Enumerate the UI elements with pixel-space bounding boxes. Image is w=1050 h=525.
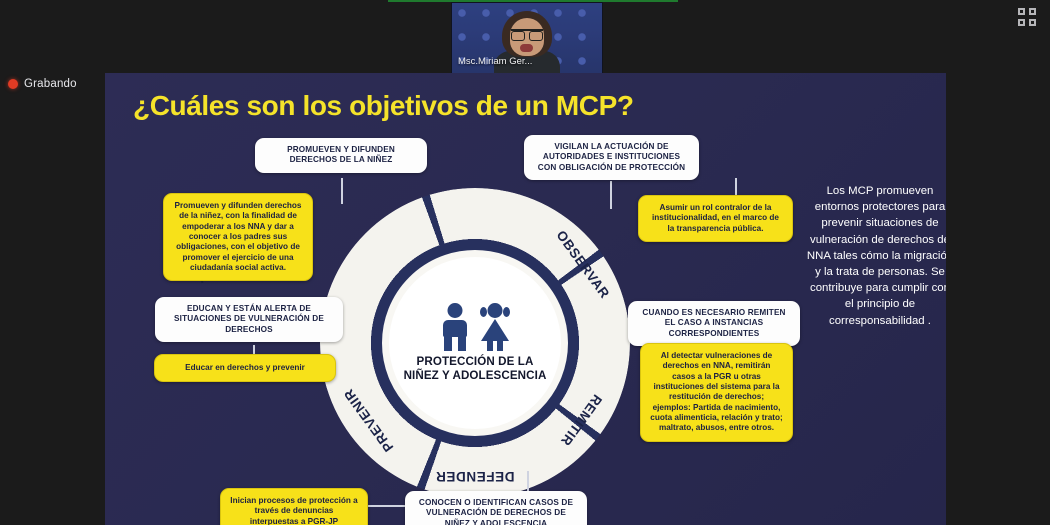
fullscreen-corner-br <box>1029 19 1036 26</box>
side-paragraph: Los MCP promueven entornos protectores p… <box>805 183 946 329</box>
callout-promover-detail: Promueven y difunden derechos de la niñe… <box>163 193 313 281</box>
presentation-slide: ¿Cuáles son los objetivos de un MCP? Los… <box>105 73 946 525</box>
callout-remitir-title: CUANDO ES NECESARIO REMITEN EL CASO A IN… <box>628 301 800 346</box>
callout-prevenir-title: EDUCAN Y ESTÁN ALERTA DE SITUACIONES DE … <box>155 297 343 342</box>
avatar-mouth <box>520 44 533 52</box>
objectives-wheel: PROTECCIÓN DE LA NIÑEZ Y ADOLESCENCIA PR… <box>320 188 630 498</box>
slide-title: ¿Cuáles son los objetivos de un MCP? <box>133 90 634 122</box>
fullscreen-corner-bl <box>1018 19 1025 26</box>
connector-defender-white <box>527 471 529 491</box>
recording-label: Grabando <box>24 78 77 90</box>
record-dot-icon <box>8 79 18 89</box>
participant-name-label: Msc.Miriam Ger... <box>458 56 532 67</box>
callout-observar-detail: Asumir un rol contralor de la institucio… <box>638 195 793 242</box>
connector-observar-white <box>610 181 612 209</box>
callout-observar-title: VIGILAN LA ACTUACIÓN DE AUTORIDADES E IN… <box>524 135 699 180</box>
glasses-icon <box>511 29 543 37</box>
callout-remitir-detail: Al detectar vulneraciones de derechos en… <box>640 343 793 442</box>
callout-defender-detail: Inician procesos de protección a través … <box>220 488 368 525</box>
fullscreen-icon[interactable] <box>1018 8 1036 26</box>
callout-promover-title: PROMUEVEN Y DIFUNDEN DERECHOS DE LA NIÑE… <box>255 138 427 173</box>
screen-root: Grabando Msc.Miriam Ger... ¿Cuáles son l… <box>0 0 1050 525</box>
callout-prevenir-detail: Educar en derechos y prevenir <box>154 354 336 382</box>
recording-indicator: Grabando <box>8 78 77 90</box>
connector-promover-yellow <box>341 178 343 190</box>
fullscreen-corner-tl <box>1018 8 1025 15</box>
fullscreen-corner-tr <box>1029 8 1036 15</box>
callout-defender-title: CONOCEN O IDENTIFICAN CASOS DE VULNERACI… <box>405 491 587 525</box>
participant-video-tile[interactable]: Msc.Miriam Ger... <box>451 2 603 74</box>
